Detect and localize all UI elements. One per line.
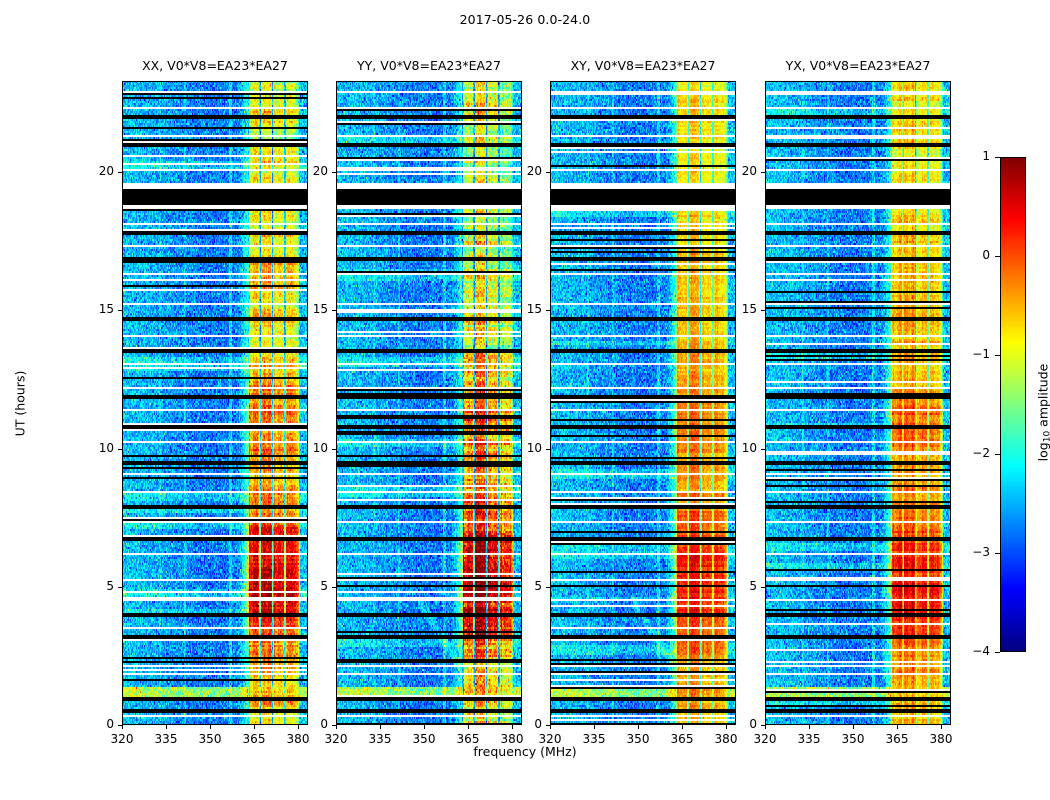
waterfall-panel-yx[interactable]	[765, 81, 951, 725]
axis-tick	[546, 587, 550, 588]
axis-tick	[332, 310, 336, 311]
axis-tick	[546, 725, 550, 726]
axis-tick	[332, 172, 336, 173]
ytick-label: 0	[288, 717, 328, 731]
ytick-label: 20	[74, 164, 114, 178]
colorbar-tick-label: 0	[956, 248, 990, 262]
yaxis-title: UT (hours)	[13, 344, 28, 464]
axis-tick	[546, 310, 550, 311]
colorbar-label-sub: 10	[1043, 431, 1050, 442]
colorbar[interactable]	[1000, 157, 1026, 652]
axis-tick	[424, 725, 425, 729]
colorbar-tick	[995, 454, 1000, 455]
axis-tick	[118, 587, 122, 588]
ytick-label: 5	[717, 579, 757, 593]
ytick-label: 15	[74, 302, 114, 316]
axis-tick	[380, 725, 381, 729]
panel-title-yy: YY, V0*V8=EA23*EA27	[319, 58, 539, 73]
ytick-label: 0	[502, 717, 542, 731]
panel-title-yx: YX, V0*V8=EA23*EA27	[748, 58, 968, 73]
colorbar-tick	[995, 157, 1000, 158]
axis-tick	[546, 449, 550, 450]
axis-tick	[118, 449, 122, 450]
waterfall-panel-yy[interactable]	[336, 81, 522, 725]
axis-tick	[594, 725, 595, 729]
ytick-label: 20	[502, 164, 542, 178]
axis-tick	[546, 172, 550, 173]
axis-tick	[166, 725, 167, 729]
axis-tick	[118, 310, 122, 311]
ytick-label: 20	[717, 164, 757, 178]
ytick-label: 15	[502, 302, 542, 316]
xaxis-title: frequency (MHz)	[0, 744, 1050, 759]
axis-tick	[118, 725, 122, 726]
ytick-label: 10	[502, 441, 542, 455]
colorbar-frame	[1000, 157, 1026, 652]
axis-tick	[638, 725, 639, 729]
axis-tick	[761, 310, 765, 311]
ytick-label: 0	[717, 717, 757, 731]
ytick-label: 0	[74, 717, 114, 731]
axis-tick	[761, 449, 765, 450]
axis-tick	[336, 725, 337, 729]
axis-tick	[809, 725, 810, 729]
axis-tick	[332, 587, 336, 588]
figure-suptitle: 2017-05-26 0.0-24.0	[0, 12, 1050, 27]
ytick-label: 10	[288, 441, 328, 455]
axis-tick	[118, 172, 122, 173]
colorbar-tick-label: −4	[956, 644, 990, 658]
waterfall-panel-xy[interactable]	[550, 81, 736, 725]
axis-tick	[897, 725, 898, 729]
ytick-label: 15	[717, 302, 757, 316]
axis-tick	[761, 587, 765, 588]
axis-tick	[682, 725, 683, 729]
ytick-label: 15	[288, 302, 328, 316]
axis-tick	[765, 725, 766, 729]
panel-title-xy: XY, V0*V8=EA23*EA27	[533, 58, 753, 73]
colorbar-tick-label: 1	[956, 149, 990, 163]
colorbar-label-prefix: log	[1036, 442, 1050, 461]
colorbar-tick-label: −3	[956, 545, 990, 559]
axis-tick	[332, 449, 336, 450]
colorbar-tick	[995, 652, 1000, 653]
axis-tick	[210, 725, 211, 729]
axis-tick	[550, 725, 551, 729]
ytick-label: 5	[288, 579, 328, 593]
axis-tick	[761, 172, 765, 173]
colorbar-title: log10 amplitude	[1036, 333, 1050, 493]
colorbar-tick	[995, 256, 1000, 257]
colorbar-tick	[995, 553, 1000, 554]
axis-tick	[254, 725, 255, 729]
ytick-label: 10	[74, 441, 114, 455]
colorbar-tick	[995, 355, 1000, 356]
axis-tick	[853, 725, 854, 729]
axis-tick	[941, 725, 942, 729]
axis-tick	[332, 725, 336, 726]
waterfall-panel-xx[interactable]	[122, 81, 308, 725]
colorbar-tick-label: −1	[956, 347, 990, 361]
panel-title-xx: XX, V0*V8=EA23*EA27	[105, 58, 325, 73]
ytick-label: 5	[502, 579, 542, 593]
axis-tick	[122, 725, 123, 729]
axis-tick	[761, 725, 765, 726]
axis-tick	[468, 725, 469, 729]
ytick-label: 5	[74, 579, 114, 593]
colorbar-label-suffix: amplitude	[1036, 364, 1050, 431]
ytick-label: 10	[717, 441, 757, 455]
colorbar-tick-label: −2	[956, 446, 990, 460]
ytick-label: 20	[288, 164, 328, 178]
